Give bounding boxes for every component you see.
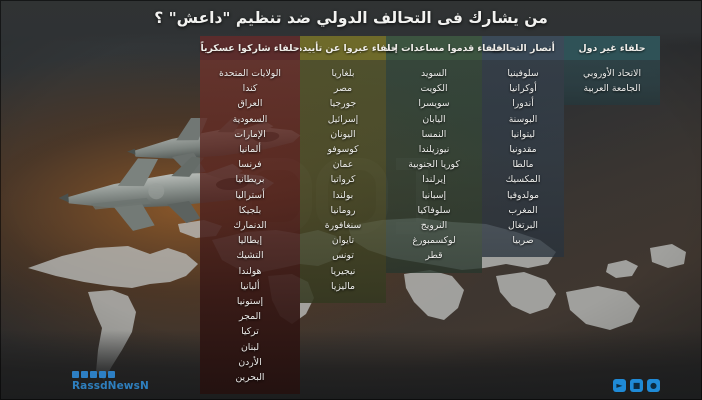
column-header-humanitarian-aid: حلفاء قدموا مساعدات إنسانية xyxy=(386,36,482,60)
list-item: بريطانيا xyxy=(208,173,292,187)
list-item: العراق xyxy=(208,97,292,111)
list-item: نيوزيلندا xyxy=(394,143,474,157)
list-item: البرتغال xyxy=(490,219,556,233)
list-item: إيرلندا xyxy=(394,173,474,187)
brand-icons-row: ► ■ ● xyxy=(613,379,660,392)
list-item: تايوان xyxy=(308,234,378,248)
youtube-icon xyxy=(81,371,88,378)
telegram-icon: ► xyxy=(613,379,626,392)
list-item: ليتوانيا xyxy=(490,128,556,142)
list-item: السويد xyxy=(394,67,474,81)
list-item: فرنسا xyxy=(208,158,292,172)
column-humanitarian-aid: حلفاء قدموا مساعدات إنسانية السويد الكوي… xyxy=(386,36,482,273)
list-item: سويسرا xyxy=(394,97,474,111)
list-item: إيطاليا xyxy=(208,234,292,248)
list-item: لبنان xyxy=(208,341,292,355)
list-item: مصر xyxy=(308,82,378,96)
list-item: اليابان xyxy=(394,113,474,127)
column-non-state-allies: حلفاء غير دول الاتحاد الأوروبي الجامعة ا… xyxy=(564,36,660,105)
list-item: الأردن xyxy=(208,356,292,370)
youtube-icon: ■ xyxy=(630,379,643,392)
infographic-canvas: من يشارك فى التحالف الدولي ضد تنظيم "داع… xyxy=(0,0,702,400)
list-item: الجامعة العربية xyxy=(572,82,652,96)
list-item: التشيك xyxy=(208,249,292,263)
list-item: مولدوفيا xyxy=(490,189,556,203)
column-list-military-participants: الولايات المتحدة كندا العراق السعودية ال… xyxy=(200,60,300,394)
column-coalition-supporters: أنصار التحالف سلوفينيا أوكرانيا أندورا ا… xyxy=(482,36,564,257)
list-item: لوكسمبورغ xyxy=(394,234,474,248)
list-item: الولايات المتحدة xyxy=(208,67,292,81)
list-item: سلوفينيا xyxy=(490,67,556,81)
list-item: ألبانيا xyxy=(208,280,292,294)
column-expressed-support: حلفاء عبروا عن تأييدهم بلغاريا مصر جورجي… xyxy=(300,36,386,303)
list-item: كوسوفو xyxy=(308,143,378,157)
list-item: النرويج xyxy=(394,219,474,233)
rassd-branding: RassdNewsN xyxy=(72,371,149,392)
list-item: المغرب xyxy=(490,204,556,218)
list-item: أندورا xyxy=(490,97,556,111)
list-item: أستراليا xyxy=(208,189,292,203)
column-list-coalition-supporters: سلوفينيا أوكرانيا أندورا البوسنة ليتواني… xyxy=(482,60,564,257)
list-item: مالطا xyxy=(490,158,556,172)
rassd-handle: RassdNewsN xyxy=(72,380,149,392)
column-header-expressed-support: حلفاء عبروا عن تأييدهم xyxy=(300,36,386,60)
list-item: المكسيك xyxy=(490,173,556,187)
list-item: رومانيا xyxy=(308,204,378,218)
list-item: جورجيا xyxy=(308,97,378,111)
column-list-expressed-support: بلغاريا مصر جورجيا إسرائيل اليونان كوسوف… xyxy=(300,60,386,303)
list-item: سلوفاكيا xyxy=(394,204,474,218)
list-item: صربيا xyxy=(490,234,556,248)
twitter-icon: ● xyxy=(647,379,660,392)
list-item: قطر xyxy=(394,249,474,263)
list-item: كرواتيا xyxy=(308,173,378,187)
column-header-non-state-allies: حلفاء غير دول xyxy=(564,36,660,60)
list-item: تونس xyxy=(308,249,378,263)
list-item: البحرين xyxy=(208,371,292,385)
column-list-non-state-allies: الاتحاد الأوروبي الجامعة العربية xyxy=(564,60,660,105)
list-item: اليونان xyxy=(308,128,378,142)
list-item: كندا xyxy=(208,82,292,96)
list-item: الدنمارك xyxy=(208,219,292,233)
instagram-icon xyxy=(99,371,106,378)
columns-container: حلفاء غير دول الاتحاد الأوروبي الجامعة ا… xyxy=(200,36,660,394)
column-list-humanitarian-aid: السويد الكويت سويسرا اليابان النمسا نيوز… xyxy=(386,60,482,273)
list-item: بولندا xyxy=(308,189,378,203)
list-item: بلجيكا xyxy=(208,204,292,218)
list-item: إسرائيل xyxy=(308,113,378,127)
list-item: ألمانيا xyxy=(208,143,292,157)
list-item: هولندا xyxy=(208,265,292,279)
list-item: ماليزيا xyxy=(308,280,378,294)
list-item: المجر xyxy=(208,310,292,324)
column-header-military-participants: حلفاء شاركوا عسكرياً xyxy=(200,36,300,60)
list-item: أوكرانيا xyxy=(490,82,556,96)
list-item: عمان xyxy=(308,158,378,172)
social-icons-row xyxy=(72,371,115,378)
list-item: سنغافورة xyxy=(308,219,378,233)
twitter-icon xyxy=(90,371,97,378)
list-item: النمسا xyxy=(394,128,474,142)
column-military-participants: حلفاء شاركوا عسكرياً الولايات المتحدة كن… xyxy=(200,36,300,394)
list-item: الإمارات xyxy=(208,128,292,142)
list-item: الكويت xyxy=(394,82,474,96)
list-item: نيجيريا xyxy=(308,265,378,279)
list-item: البوسنة xyxy=(490,113,556,127)
list-item: كوريا الجنوبية xyxy=(394,158,474,172)
title-bar: من يشارك فى التحالف الدولي ضد تنظيم "داع… xyxy=(0,0,702,36)
list-item: إسبانيا xyxy=(394,189,474,203)
list-item: تركيا xyxy=(208,325,292,339)
list-item: مقدونيا xyxy=(490,143,556,157)
page-title: من يشارك فى التحالف الدولي ضد تنظيم "داع… xyxy=(154,9,548,27)
facebook-icon xyxy=(72,371,79,378)
list-item: بلغاريا xyxy=(308,67,378,81)
list-item: الاتحاد الأوروبي xyxy=(572,67,652,81)
list-item: إستونيا xyxy=(208,295,292,309)
list-item: السعودية xyxy=(208,113,292,127)
rss-icon xyxy=(108,371,115,378)
